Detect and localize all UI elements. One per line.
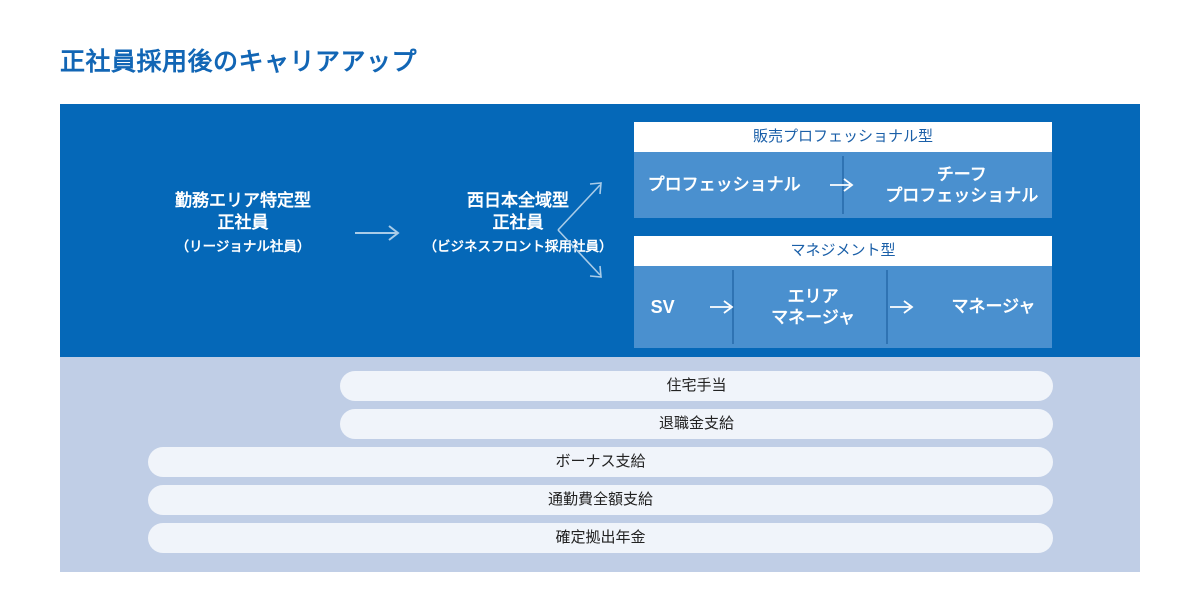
role-regional-line1: 勤務エリア特定型 (128, 190, 358, 212)
branch-arrows-icon (548, 172, 610, 288)
stage-manager: マネージャ (952, 296, 1036, 317)
role-westjapan-line2: 正社員 (368, 212, 668, 234)
role-block-westjapan: 西日本全域型 正社員 （ビジネスフロント採用社員） (368, 190, 668, 256)
path-card-sales-header: 販売プロフェッショナル型 (634, 122, 1052, 152)
page-title: 正社員採用後のキャリアアップ (60, 42, 417, 78)
path-card-management[interactable]: マネジメント型 SV エリア マネージャ マネージャ (634, 236, 1052, 348)
role-regional-line2: 正社員 (128, 212, 358, 234)
benefit-pill-bonus-payment: ボーナス支給 (148, 447, 1053, 477)
benefit-pill-retirement-payment: 退職金支給 (340, 409, 1053, 439)
role-block-regional: 勤務エリア特定型 正社員 （リージョナル社員） (128, 190, 358, 256)
right-arrow-icon (708, 297, 738, 317)
stage-sv: SV (651, 296, 675, 319)
stage-chief-professional: チーフ プロフェッショナル (885, 164, 1038, 207)
role-westjapan-line1: 西日本全域型 (368, 190, 668, 212)
stage-professional: プロフェッショナル (648, 174, 801, 195)
career-panel: 勤務エリア特定型 正社員 （リージョナル社員） 西日本全域型 正社員 （ビジネス… (60, 104, 1140, 357)
benefits-section: 住宅手当 退職金支給 ボーナス支給 通勤費全額支給 確定拠出年金 (60, 357, 1140, 572)
right-arrow-icon (888, 297, 918, 317)
benefit-pill-commuting-expenses: 通勤費全額支給 (148, 485, 1053, 515)
role-regional-note: （リージョナル社員） (128, 238, 358, 256)
right-arrow-icon (828, 175, 858, 195)
path-card-management-body: SV エリア マネージャ マネージャ (634, 266, 1052, 348)
path-card-sales-body: プロフェッショナル チーフ プロフェッショナル (634, 152, 1052, 218)
path-card-sales-professional[interactable]: 販売プロフェッショナル型 プロフェッショナル チーフ プロフェッショナル (634, 122, 1052, 218)
benefit-pill-defined-contribution-pension: 確定拠出年金 (148, 523, 1053, 553)
benefit-pill-housing-allowance: 住宅手当 (340, 371, 1053, 401)
role-westjapan-note: （ビジネスフロント採用社員） (368, 238, 668, 256)
stage-area-manager: エリア マネージャ (771, 286, 855, 329)
path-card-management-header: マネジメント型 (634, 236, 1052, 266)
